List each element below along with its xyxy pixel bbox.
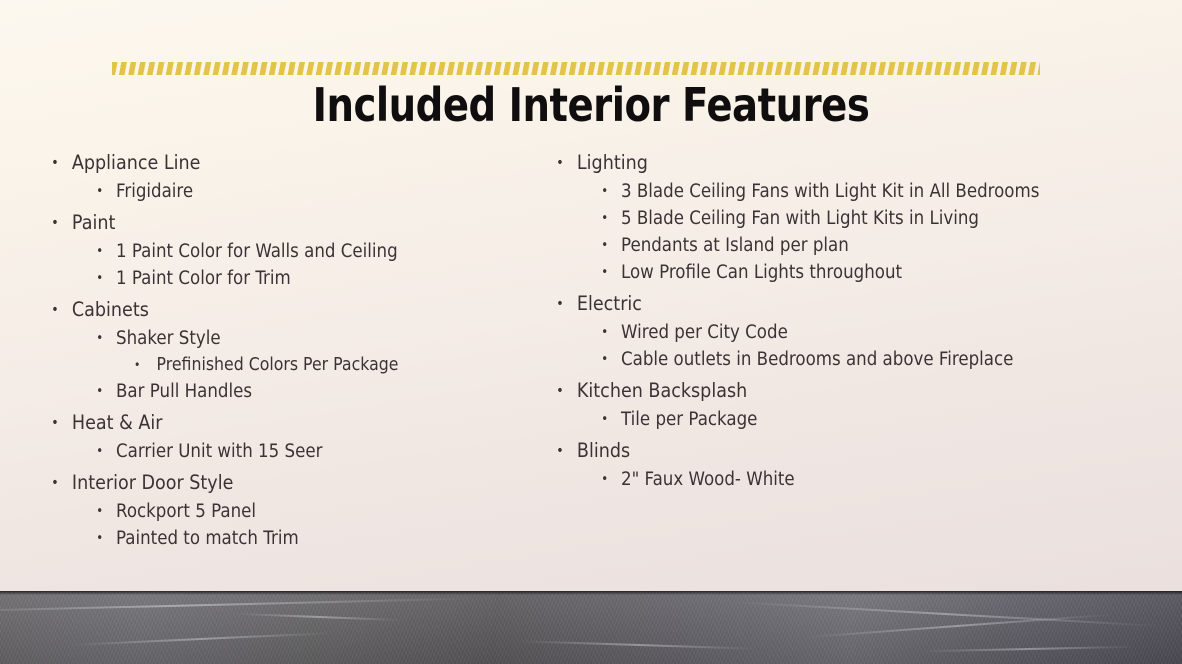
stone-scratch bbox=[71, 632, 331, 645]
bullet-item-level-2: •Painted to match Trim bbox=[44, 525, 476, 552]
bullet-dot-icon: • bbox=[556, 289, 563, 319]
bullet-item-level-1: •Lighting bbox=[549, 148, 1017, 178]
bullet-item-level-1: •Paint bbox=[44, 208, 476, 238]
bullet-column-right: •Lighting•3 Blade Ceiling Fans with Ligh… bbox=[549, 148, 1069, 493]
stone-scratch bbox=[236, 613, 401, 621]
bullet-item-label: Tile per Package bbox=[621, 406, 757, 433]
bullet-item-level-2: •Bar Pull Handles bbox=[44, 378, 476, 405]
bullet-dot-icon: • bbox=[556, 436, 563, 466]
bullet-item-label: Carrier Unit with 15 Seer bbox=[116, 438, 322, 465]
bullet-item-label: Frigidaire bbox=[116, 178, 193, 205]
bullet-item-level-1: •Heat & Air bbox=[44, 408, 476, 438]
bullet-item-level-2: •Low Profile Can Lights throughout bbox=[549, 259, 1017, 286]
bullet-item-level-2: •1 Paint Color for Walls and Ceiling bbox=[44, 238, 476, 265]
bullet-dot-icon: • bbox=[51, 468, 58, 498]
bullet-item-level-3: •Prefinished Colors Per Package bbox=[44, 352, 476, 378]
bullet-item-label: Pendants at Island per plan bbox=[621, 232, 849, 259]
bullet-dot-icon: • bbox=[556, 376, 563, 406]
bullet-item-label: 1 Paint Color for Trim bbox=[116, 265, 291, 292]
stone-scratch bbox=[804, 613, 1111, 637]
bullet-item-label: Lighting bbox=[577, 148, 648, 178]
bullet-dot-icon: • bbox=[601, 259, 608, 286]
bullet-item-label: Rockport 5 Panel bbox=[116, 498, 256, 525]
bullet-item-label: Painted to match Trim bbox=[116, 525, 299, 552]
decorative-gold-hatch-bar bbox=[112, 62, 1040, 75]
bullet-item-level-2: •5 Blade Ceiling Fan with Light Kits in … bbox=[549, 205, 1017, 232]
bullet-dot-icon: • bbox=[601, 346, 608, 373]
bullet-dot-icon: • bbox=[51, 408, 58, 438]
bullet-dot-icon: • bbox=[96, 525, 103, 552]
bullet-item-label: Electric bbox=[577, 289, 642, 319]
bullet-item-level-2: •Tile per Package bbox=[549, 406, 1017, 433]
stone-scratch bbox=[922, 646, 1135, 652]
bullet-item-level-2: •Pendants at Island per plan bbox=[549, 232, 1017, 259]
bullet-dot-icon: • bbox=[134, 352, 140, 378]
bullet-item-level-2: •Carrier Unit with 15 Seer bbox=[44, 438, 476, 465]
bullet-dot-icon: • bbox=[51, 295, 58, 325]
bullet-item-label: Cable outlets in Bedrooms and above Fire… bbox=[621, 346, 1013, 373]
stone-scratch bbox=[520, 640, 756, 649]
bullet-item-label: Low Profile Can Lights throughout bbox=[621, 259, 902, 286]
bullet-dot-icon: • bbox=[96, 238, 103, 265]
bullet-dot-icon: • bbox=[556, 148, 563, 178]
bullet-item-label: Appliance Line bbox=[72, 148, 201, 178]
bullet-dot-icon: • bbox=[601, 178, 608, 205]
bullet-dot-icon: • bbox=[601, 232, 608, 259]
bullet-item-level-1: •Appliance Line bbox=[44, 148, 476, 178]
bullet-item-level-1: •Cabinets bbox=[44, 295, 476, 325]
bullet-item-level-2: •Frigidaire bbox=[44, 178, 476, 205]
bullet-item-label: 1 Paint Color for Walls and Ceiling bbox=[116, 238, 398, 265]
bullet-dot-icon: • bbox=[96, 438, 103, 465]
bullet-item-label: Bar Pull Handles bbox=[116, 378, 252, 405]
bullet-item-label: Kitchen Backsplash bbox=[577, 376, 747, 406]
bullet-column-left: •Appliance Line•Frigidaire•Paint•1 Paint… bbox=[44, 148, 524, 552]
bullet-dot-icon: • bbox=[96, 265, 103, 292]
bullet-dot-icon: • bbox=[51, 148, 58, 178]
bullet-item-label: 2" Faux Wood- White bbox=[621, 466, 795, 493]
bullet-dot-icon: • bbox=[601, 406, 608, 433]
bullet-item-label: Interior Door Style bbox=[72, 468, 233, 498]
bullet-item-label: Shaker Style bbox=[116, 325, 221, 352]
bullet-item-label: Wired per City Code bbox=[621, 319, 788, 346]
slide-title: Included Interior Features bbox=[95, 78, 1088, 132]
bullet-item-level-2: •Rockport 5 Panel bbox=[44, 498, 476, 525]
bullet-item-label: Prefinished Colors Per Package bbox=[157, 352, 399, 378]
bullet-dot-icon: • bbox=[96, 498, 103, 525]
bullet-item-level-2: •1 Paint Color for Trim bbox=[44, 265, 476, 292]
bullet-dot-icon: • bbox=[96, 325, 103, 352]
slide-body: •Appliance Line•Frigidaire•Paint•1 Paint… bbox=[0, 148, 1182, 578]
bullet-item-level-2: •Shaker Style bbox=[44, 325, 476, 352]
bullet-dot-icon: • bbox=[51, 208, 58, 238]
bullet-item-level-2: •3 Blade Ceiling Fans with Light Kit in … bbox=[549, 178, 1017, 205]
bullet-dot-icon: • bbox=[96, 178, 103, 205]
stone-footer-band bbox=[0, 591, 1182, 664]
bullet-item-level-1: •Blinds bbox=[549, 436, 1017, 466]
bullet-item-label: 5 Blade Ceiling Fan with Light Kits in L… bbox=[621, 205, 979, 232]
bullet-dot-icon: • bbox=[601, 466, 608, 493]
bullet-item-label: Cabinets bbox=[72, 295, 149, 325]
bullet-item-level-2: •Cable outlets in Bedrooms and above Fir… bbox=[549, 346, 1017, 373]
bullet-item-level-2: •2" Faux Wood- White bbox=[549, 466, 1017, 493]
bullet-item-label: Heat & Air bbox=[72, 408, 163, 438]
bullet-item-level-1: •Interior Door Style bbox=[44, 468, 476, 498]
bullet-dot-icon: • bbox=[96, 378, 103, 405]
presentation-slide: Included Interior Features •Appliance Li… bbox=[0, 0, 1182, 664]
bullet-item-label: 3 Blade Ceiling Fans with Light Kit in A… bbox=[621, 178, 1039, 205]
bullet-item-level-2: •Wired per City Code bbox=[549, 319, 1017, 346]
bullet-item-level-1: •Electric bbox=[549, 289, 1017, 319]
bullet-dot-icon: • bbox=[601, 205, 608, 232]
bullet-item-label: Paint bbox=[72, 208, 115, 238]
bullet-item-label: Blinds bbox=[577, 436, 630, 466]
bullet-item-level-1: •Kitchen Backsplash bbox=[549, 376, 1017, 406]
bullet-dot-icon: • bbox=[601, 319, 608, 346]
